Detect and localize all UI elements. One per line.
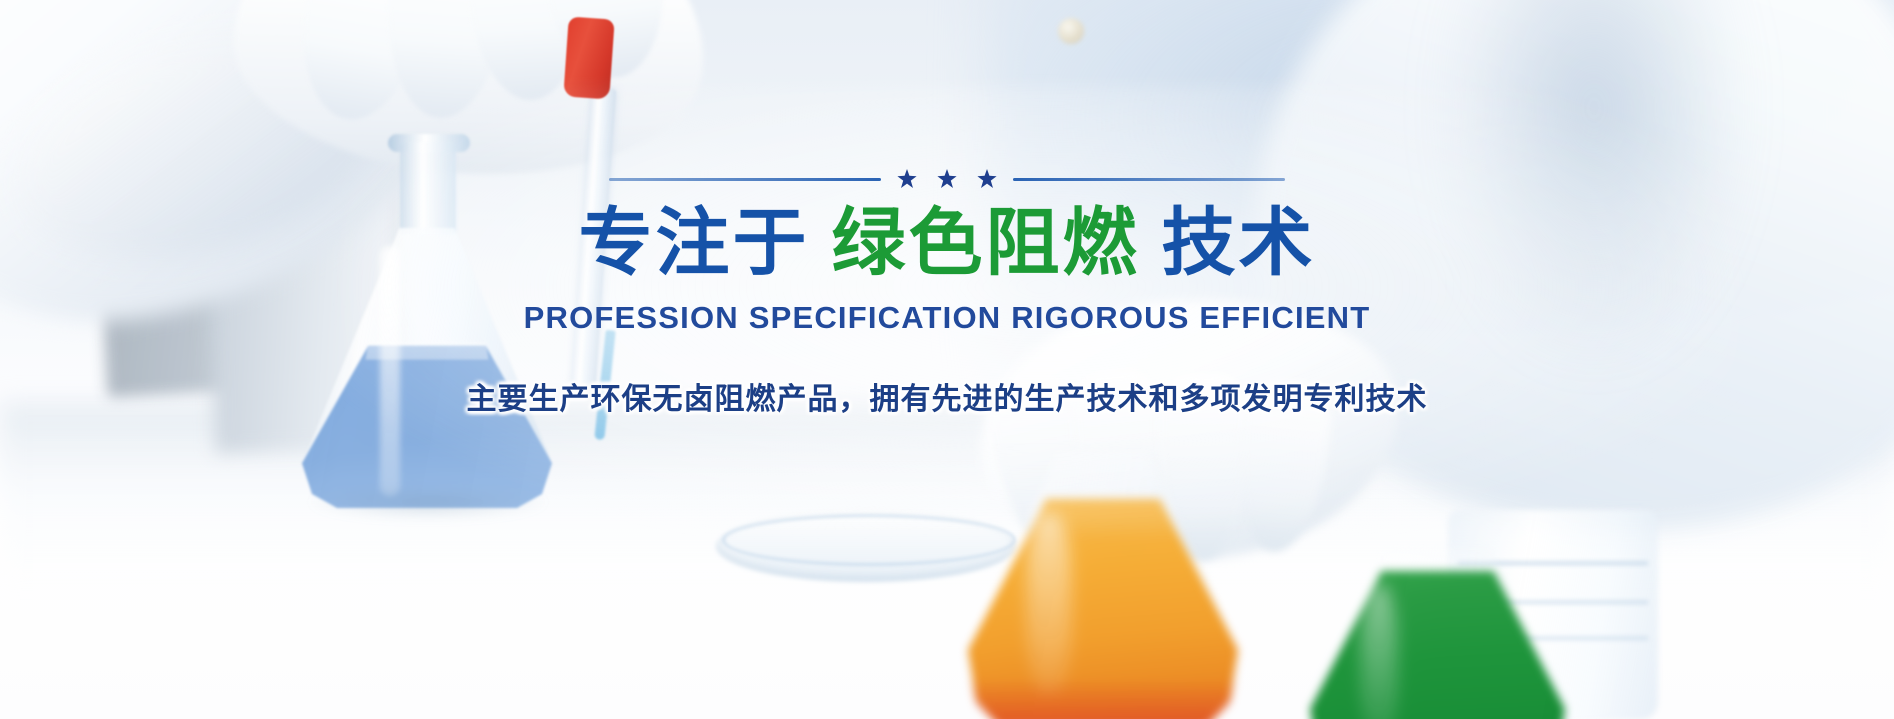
- headline-segment-highlight: 绿色阻燃: [832, 201, 1140, 284]
- star-icon: [897, 169, 917, 189]
- flask-orange-liquid-depth: [968, 678, 1238, 719]
- star-icon: [937, 169, 957, 189]
- decorative-rule-row: [0, 168, 1894, 190]
- divider-line-left: [609, 178, 881, 181]
- hero-banner: 专注于绿色阻燃技术 PROFESSION SPECIFICATION RIGOR…: [0, 0, 1894, 719]
- banner-subtitle-english: PROFESSION SPECIFICATION RIGOROUS EFFICI…: [0, 300, 1894, 336]
- banner-content: 专注于绿色阻燃技术 PROFESSION SPECIFICATION RIGOR…: [0, 168, 1894, 418]
- divider-line-right: [1013, 178, 1285, 181]
- erlenmeyer-flask-green: [1310, 548, 1565, 719]
- flask-glass-highlight: [1027, 513, 1070, 695]
- banner-tagline-chinese: 主要生产环保无卤阻燃产品，拥有先进的生产技术和多项发明专利技术: [0, 374, 1894, 418]
- lab-coat-button: [1058, 18, 1084, 44]
- headline-segment-suffix: 技术: [1162, 201, 1316, 284]
- star-icon: [977, 169, 997, 189]
- headline-segment-primary: 专注于: [579, 201, 810, 284]
- flask-glass-highlight: [1361, 585, 1397, 719]
- star-group: [897, 169, 997, 189]
- banner-headline: 专注于绿色阻燃技术: [0, 204, 1894, 282]
